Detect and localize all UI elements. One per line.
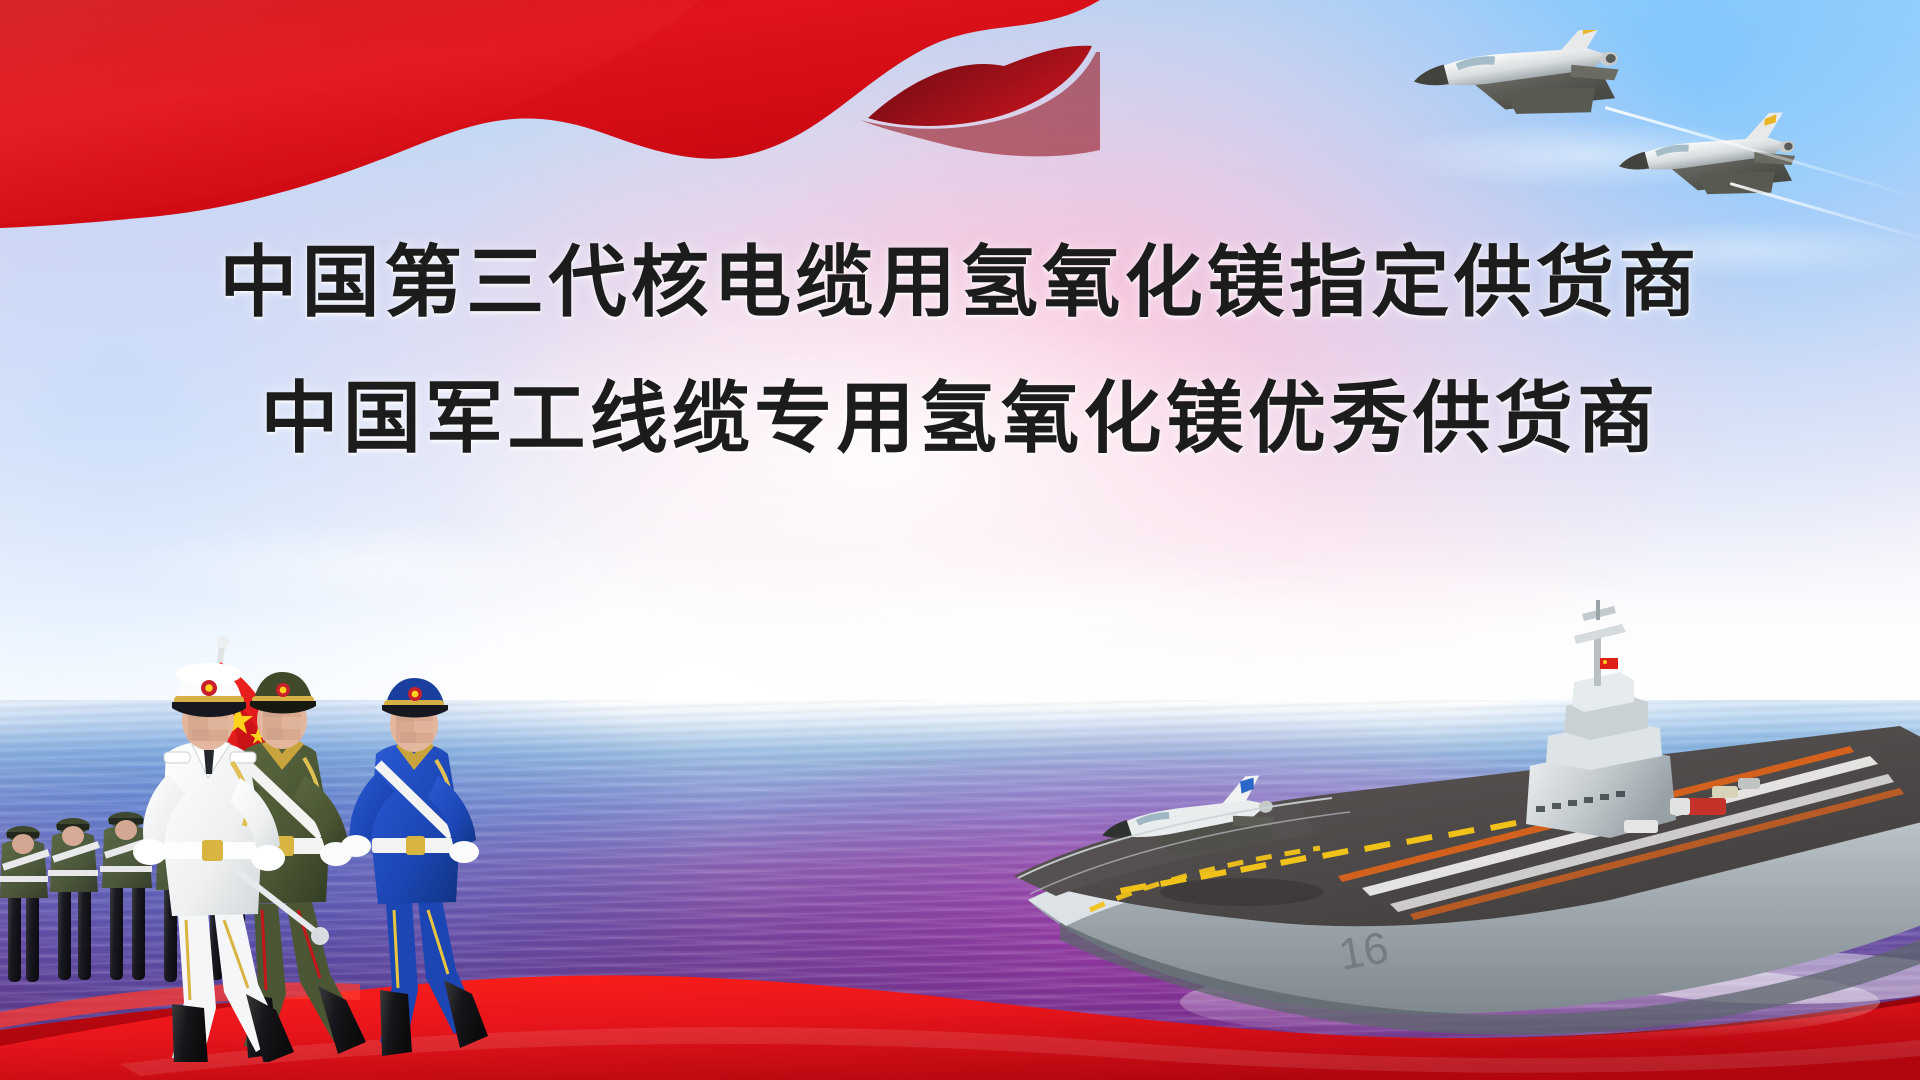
carrier-hull-number: 16 — [1335, 923, 1392, 980]
title-line-1: 中国第三代核电缆用氢氧化镁指定供货商 — [0, 236, 1920, 328]
aircraft-carrier: 16 — [970, 570, 1920, 1040]
promotional-banner: 16 — [0, 0, 1920, 1080]
jet-aircraft-pair — [1400, 30, 1920, 230]
title-line-2: 中国军工线缆专用氢氧化镁优秀供货商 — [0, 372, 1920, 464]
airforce-guard — [341, 678, 488, 1056]
title-block: 中国第三代核电缆用氢氧化镁指定供货商 中国军工线缆专用氢氧化镁优秀供货商 — [0, 236, 1920, 464]
fighter-jet-formation — [1400, 30, 1920, 230]
honor-guard-formation — [0, 602, 546, 1062]
waving-red-flag — [0, 0, 1100, 230]
